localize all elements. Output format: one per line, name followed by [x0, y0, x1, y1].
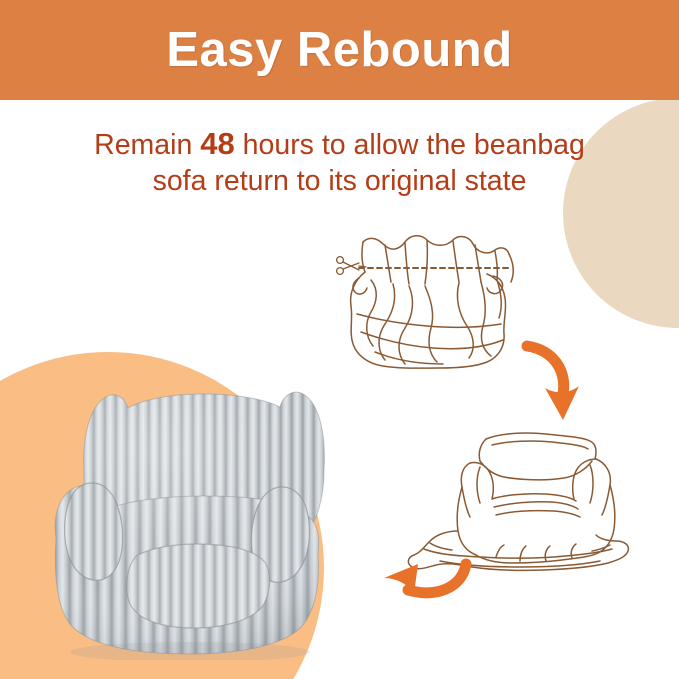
subtitle-highlight-number: 48	[200, 126, 234, 161]
subtitle-text: Remain 48 hours to allow the beanbag sof…	[0, 126, 679, 199]
subtitle-line-1: Remain 48 hours to allow the beanbag	[0, 126, 679, 163]
subtitle-line-2: sofa return to its original state	[0, 163, 679, 199]
subtitle-line1-prefix: Remain	[94, 129, 200, 161]
beanbag-sofa-photo	[28, 360, 348, 660]
header-banner: Easy Rebound	[0, 0, 679, 100]
arrow-left-curved-icon	[370, 548, 480, 613]
arrow-down-curved-icon	[505, 336, 585, 431]
infographic-canvas: Easy Rebound Remain 48 hours to allow th…	[0, 0, 679, 679]
page-title: Easy Rebound	[166, 26, 512, 75]
subtitle-line1-suffix: hours to allow the beanbag	[235, 129, 585, 161]
